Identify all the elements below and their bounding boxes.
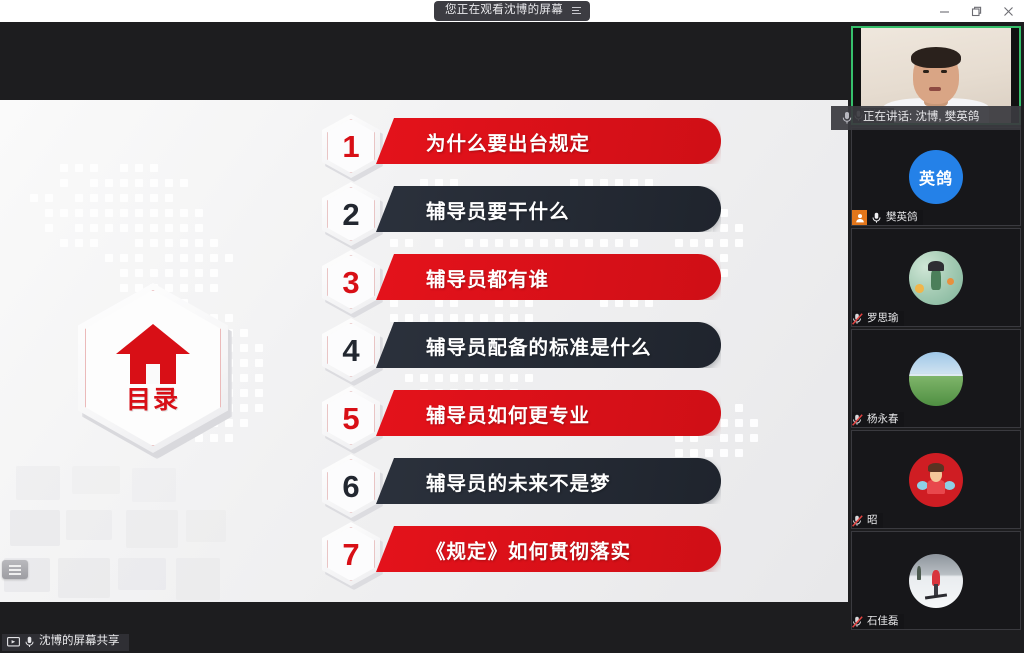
toc-item-banner: 辅导员配备的标准是什么 <box>376 322 721 368</box>
restore-icon[interactable] <box>960 0 992 22</box>
toc-item-number: 6 <box>322 454 380 518</box>
participant-name: 樊英鸽 <box>886 212 918 223</box>
toc-item-banner: 辅导员的未来不是梦 <box>376 458 721 504</box>
toc-item-number-badge: 5 <box>322 386 380 450</box>
microphone-muted-icon[interactable] <box>852 413 863 426</box>
hamburger-menu-icon[interactable] <box>572 7 581 15</box>
bottom-status-bar: 沈博的屏幕共享 <box>0 631 1024 653</box>
participant-name: 罗思瑜 <box>867 313 899 324</box>
participant-name: 昭 <box>867 515 878 526</box>
toc-item-banner: 为什么要出台规定 <box>376 118 721 164</box>
active-speaker-text: 正在讲话: 沈博, 樊英鸽 <box>863 112 979 124</box>
toc-item-row: 2辅导员要干什么 <box>322 176 722 244</box>
screen-share-icon <box>7 637 20 648</box>
toc-item-row: 4辅导员配备的标准是什么 <box>322 312 722 380</box>
participant-tile[interactable]: 石佳磊 <box>851 531 1021 630</box>
toc-item-text: 为什么要出台规定 <box>426 127 590 156</box>
participant-tile[interactable]: 昭 <box>851 430 1021 529</box>
participant-name-strip: 杨永春 <box>852 412 904 427</box>
participant-tile[interactable]: 杨永春 <box>851 329 1021 428</box>
decorative-blocks <box>0 452 330 602</box>
participant-name: 石佳磊 <box>867 616 899 627</box>
toc-item-text: 辅导员要干什么 <box>426 195 570 224</box>
avatar <box>909 453 963 507</box>
microphone-icon[interactable] <box>871 211 882 224</box>
screen-share-label: 沈博的屏幕共享 <box>39 636 120 648</box>
toc-item-banner: 《规定》如何贯彻落实 <box>376 526 721 572</box>
avatar: 英鸽 <box>909 150 963 204</box>
microphone-muted-icon[interactable] <box>852 312 863 325</box>
participant-name-strip: 石佳磊 <box>852 614 904 629</box>
viewing-screen-indicator[interactable]: 您正在观看沈博的屏幕 <box>434 1 590 22</box>
toc-item-list: 1为什么要出台规定2辅导员要干什么3辅导员都有谁4辅导员配备的标准是什么5辅导员… <box>322 108 722 584</box>
participant-tile[interactable]: 英鸽樊英鸽 <box>851 127 1021 226</box>
close-icon[interactable] <box>992 0 1024 22</box>
toc-item-row: 5辅导员如何更专业 <box>322 380 722 448</box>
microphone-icon <box>25 636 34 648</box>
toc-item-text: 《规定》如何贯彻落实 <box>426 535 631 564</box>
toc-item-banner: 辅导员要干什么 <box>376 186 721 232</box>
toc-item-number-badge: 7 <box>322 522 380 586</box>
avatar <box>909 352 963 406</box>
microphone-muted-icon[interactable] <box>852 514 863 527</box>
toc-item-row: 7《规定》如何贯彻落实 <box>322 516 722 584</box>
toc-hexagon-badge: 目录 <box>78 283 228 453</box>
toc-item-number-badge: 4 <box>322 318 380 382</box>
toc-label: 目录 <box>126 380 180 416</box>
microphone-icon <box>839 110 855 126</box>
minimize-icon[interactable] <box>928 0 960 22</box>
participant-tile[interactable]: 罗思瑜 <box>851 228 1021 327</box>
toc-item-number: 4 <box>322 318 380 382</box>
toc-item-text: 辅导员如何更专业 <box>426 399 590 428</box>
toc-item-number: 5 <box>322 386 380 450</box>
toc-item-number: 2 <box>322 182 380 246</box>
toc-item-number-badge: 2 <box>322 182 380 246</box>
avatar <box>909 554 963 608</box>
participant-name-strip: 樊英鸽 <box>852 210 923 225</box>
participant-name-strip: 昭 <box>852 513 883 528</box>
title-bar: 您正在观看沈博的屏幕 <box>0 0 1024 22</box>
window-controls <box>928 0 1024 22</box>
microphone-muted-icon[interactable] <box>852 615 863 628</box>
toc-item-number-badge: 1 <box>322 114 380 178</box>
active-speaker-banner: 正在讲话: 沈博, 樊英鸽 <box>831 106 1021 130</box>
toc-item-banner: 辅导员都有谁 <box>376 254 721 300</box>
house-icon <box>116 324 190 384</box>
participant-name-strip: 罗思瑜 <box>852 311 904 326</box>
presentation-slide: 目录 1为什么要出台规定2辅导员要干什么3辅导员都有谁4辅导员配备的标准是什么5… <box>0 100 848 602</box>
toc-item-row: 6辅导员的未来不是梦 <box>322 448 722 516</box>
panel-handle-icon[interactable] <box>2 560 28 579</box>
participant-name: 杨永春 <box>867 414 899 425</box>
zoom-meeting-window: 您正在观看沈博的屏幕 <box>0 0 1024 653</box>
toc-item-number-badge: 3 <box>322 250 380 314</box>
shared-screen-stage: 目录 1为什么要出台规定2辅导员要干什么3辅导员都有谁4辅导员配备的标准是什么5… <box>0 22 848 631</box>
toc-item-number: 1 <box>322 114 380 178</box>
avatar-initials: 英鸽 <box>919 165 953 189</box>
toc-item-number-badge: 6 <box>322 454 380 518</box>
avatar <box>909 251 963 305</box>
toc-item-number: 3 <box>322 250 380 314</box>
screen-share-status-chip[interactable]: 沈博的屏幕共享 <box>2 634 129 651</box>
viewing-screen-label: 您正在观看沈博的屏幕 <box>445 5 563 17</box>
toc-item-text: 辅导员的未来不是梦 <box>426 467 611 496</box>
toc-item-text: 辅导员配备的标准是什么 <box>426 331 652 360</box>
toc-item-text: 辅导员都有谁 <box>426 263 549 292</box>
toc-item-number: 7 <box>322 522 380 586</box>
toc-item-banner: 辅导员如何更专业 <box>376 390 721 436</box>
toc-item-row: 1为什么要出台规定 <box>322 108 722 176</box>
host-badge-icon <box>852 210 867 225</box>
toc-item-row: 3辅导员都有谁 <box>322 244 722 312</box>
